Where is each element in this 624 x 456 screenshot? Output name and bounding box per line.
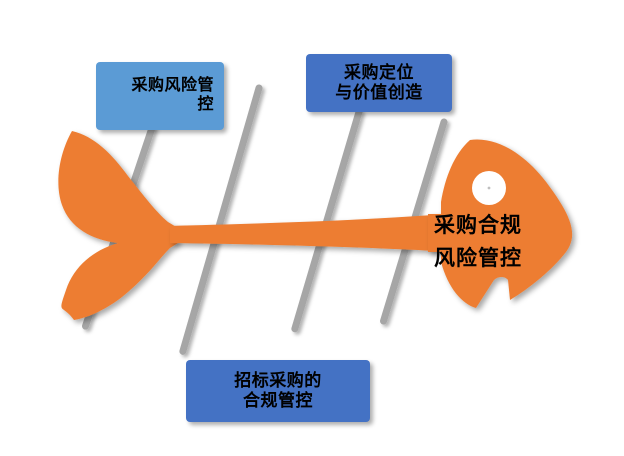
category-box-bidding-procurement-compliance[interactable]: 招标采购的 合规管控 — [186, 360, 370, 422]
fish-pupil-icon — [488, 187, 491, 190]
fish-head-label: 采购合规 风险管控 — [434, 210, 564, 275]
fish-tail — [58, 131, 178, 320]
category-box-procurement-positioning-value-creation[interactable]: 采购定位 与价值创造 — [306, 54, 452, 112]
category-box-procurement-risk-control[interactable]: 采购风险管 控 — [96, 62, 224, 130]
fishbone-diagram: 采购合规 风险管控 采购风险管 控 采购定位 与价值创造 招标采购的 合规管控 — [0, 0, 624, 456]
